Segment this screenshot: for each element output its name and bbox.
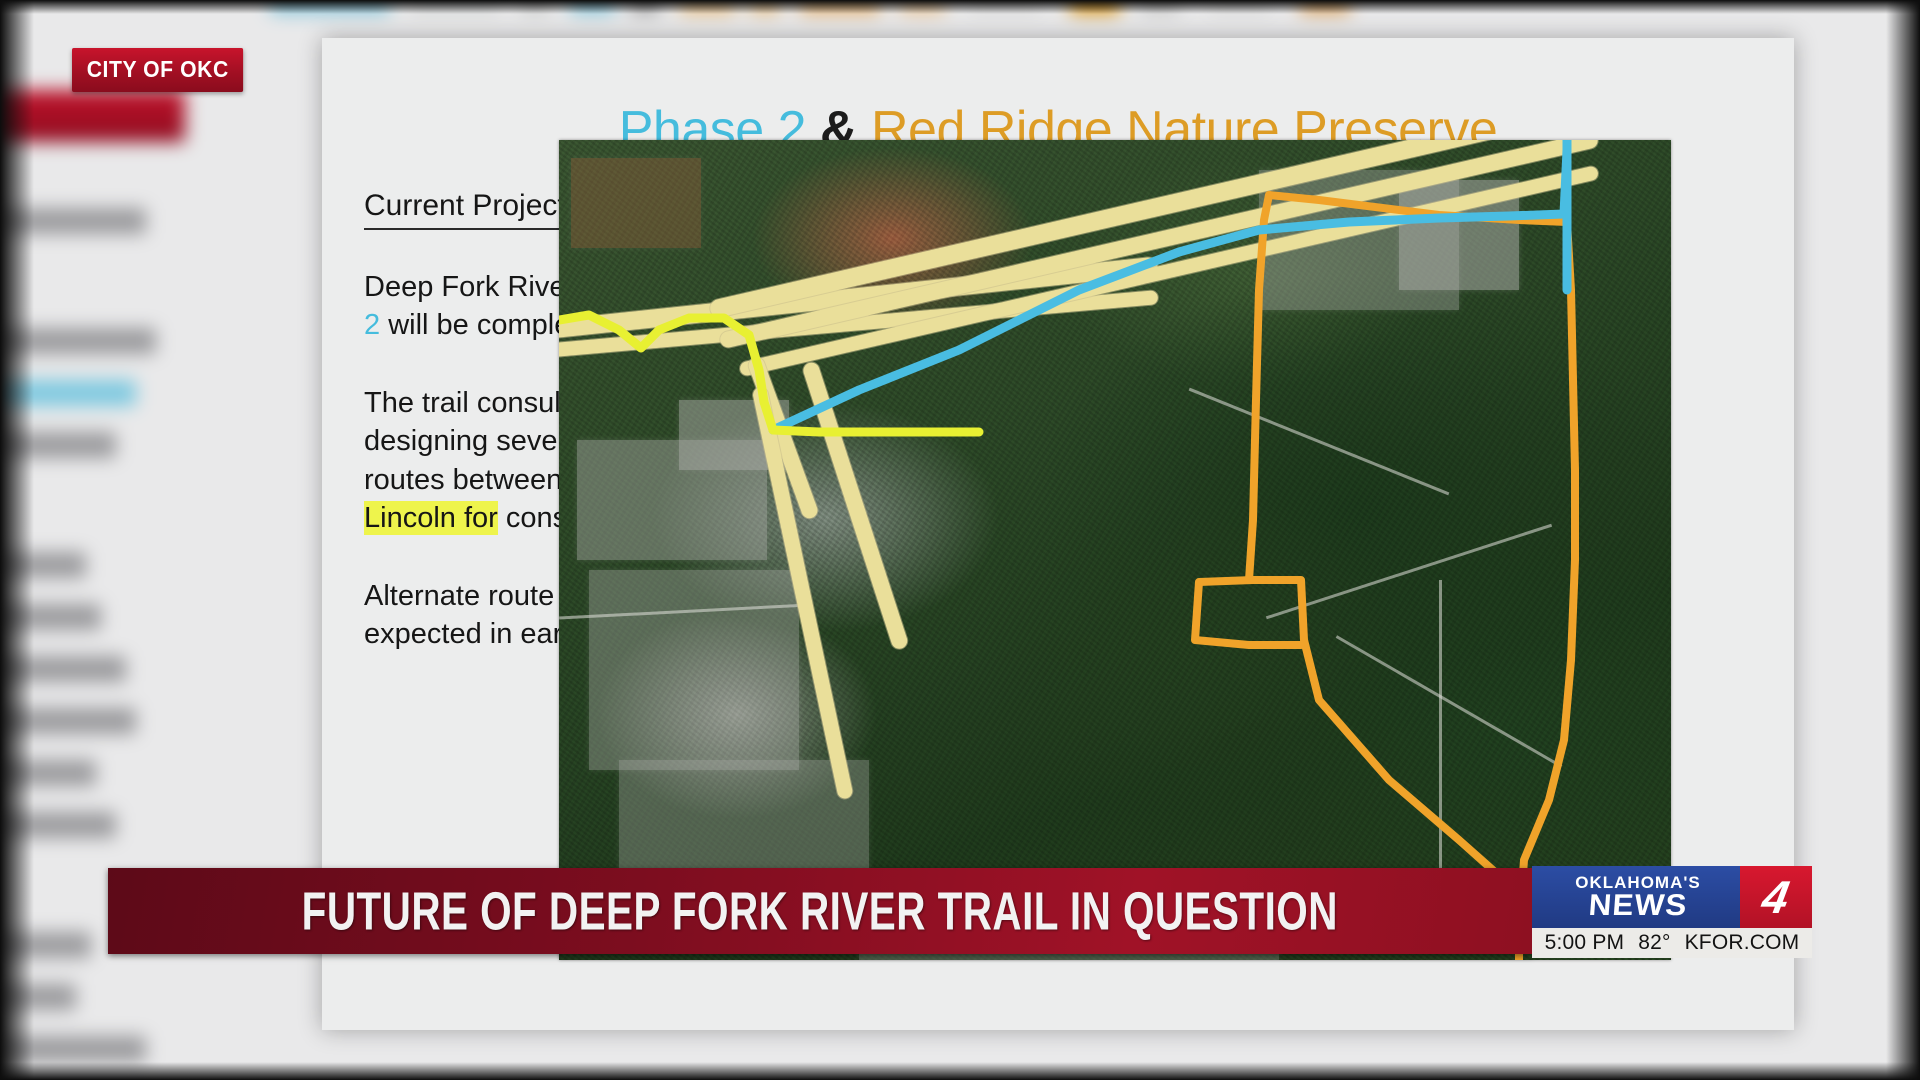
route-preserve-spur — [1195, 580, 1301, 645]
station-logo-channel-box: 4 — [1740, 866, 1812, 928]
source-badge-city-of-okc: CITY OF OKC — [72, 48, 243, 92]
station-logo-text: OKLAHOMA'S NEWS — [1532, 866, 1740, 928]
chyron-headline: FUTURE OF DEEP FORK RIVER TRAIL IN QUEST… — [302, 880, 1338, 943]
station-logo-channel-number: 4 — [1759, 874, 1793, 920]
background-okc-badge-ghost — [0, 90, 185, 142]
route-preserve-boundary-west — [1249, 195, 1519, 960]
station-website: KFOR.COM — [1685, 931, 1800, 955]
station-logo-block: OKLAHOMA'S NEWS 4 5:00 PM 82°KFOR.COM — [1532, 866, 1812, 958]
current-temperature: 82° — [1638, 931, 1670, 955]
route-phase-2-cyan — [773, 214, 1564, 430]
route-preserve-boundary-east — [1269, 195, 1575, 930]
station-logo: OKLAHOMA'S NEWS 4 — [1532, 866, 1812, 928]
station-info-bar: 5:00 PM 82°KFOR.COM — [1532, 928, 1812, 958]
route-existing-trail-yellow — [559, 315, 773, 430]
satellite-map: City Council March 25, 2025 — [559, 140, 1671, 960]
broadcast-frame: Phase 2 & Red Ridge Nature Preserve Curr… — [0, 0, 1920, 1080]
route-overlays — [559, 140, 1671, 960]
chyron-bar: FUTURE OF DEEP FORK RIVER TRAIL IN QUEST… — [108, 868, 1532, 954]
station-logo-news: NEWS — [1588, 892, 1689, 920]
current-time: 5:00 PM — [1545, 931, 1625, 955]
route-existing-trail-yellow-east — [773, 430, 979, 432]
